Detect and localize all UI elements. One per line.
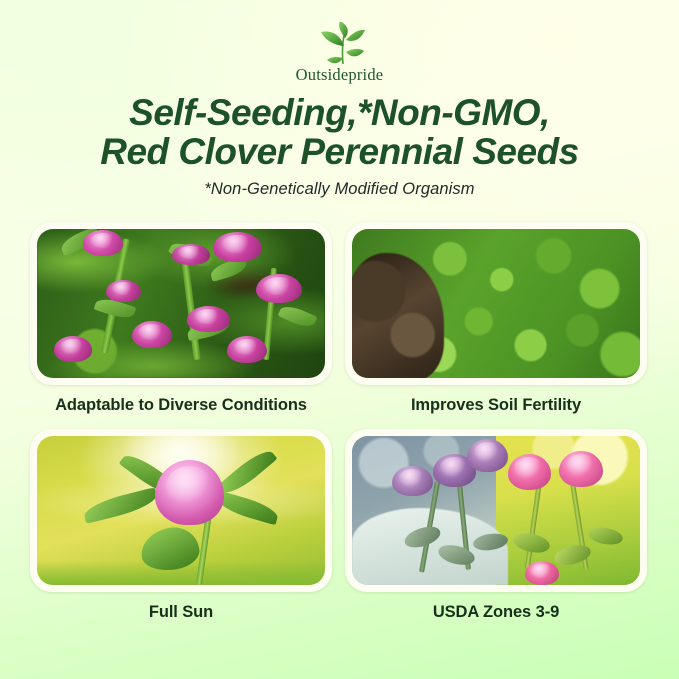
title-line-1: Self-Seeding,*Non-GMO, — [129, 92, 550, 133]
clover-bloom — [392, 466, 432, 496]
photo-frame — [345, 429, 647, 592]
clover-bloom — [132, 321, 172, 348]
brand-logo: Outsidepride — [296, 22, 384, 84]
cold-warm-split-photo — [352, 436, 640, 585]
feature-panel: Adaptable to Diverse Conditions — [30, 222, 332, 415]
brand-name: Outsidepride — [296, 67, 384, 84]
panel-caption: USDA Zones 3-9 — [345, 603, 647, 622]
clover-bloom — [83, 230, 123, 255]
leaf-sprig-icon — [303, 22, 375, 66]
photo-frame — [30, 429, 332, 592]
clover-bloom — [227, 336, 267, 363]
clover-groundcover-soil-photo — [352, 229, 640, 378]
feature-panel: USDA Zones 3-9 — [345, 429, 647, 622]
clover-bloom — [559, 451, 602, 487]
header: Outsidepride Self-Seeding,*Non-GMO, Red … — [0, 22, 679, 199]
clover-bloom — [155, 460, 224, 526]
clover-bloom — [54, 336, 91, 361]
clover-blossoms-photo — [37, 229, 325, 378]
panel-caption: Improves Soil Fertility — [345, 396, 647, 415]
infographic-canvas: Outsidepride Self-Seeding,*Non-GMO, Red … — [0, 0, 679, 679]
feature-panel: Improves Soil Fertility — [345, 222, 647, 415]
panel-caption: Adaptable to Diverse Conditions — [30, 396, 332, 415]
photo-frame — [30, 222, 332, 385]
feature-panel: Full Sun — [30, 429, 332, 622]
clover-bloom — [256, 274, 302, 304]
photo-frame — [345, 222, 647, 385]
page-subtitle: *Non-Genetically Modified Organism — [0, 180, 679, 199]
page-title: Self-Seeding,*Non-GMO, Red Clover Perenn… — [0, 93, 679, 171]
panel-caption: Full Sun — [30, 603, 332, 622]
clover-bloom — [508, 454, 551, 490]
clover-bloom — [187, 306, 230, 331]
sunlit-clover-bloom-photo — [37, 436, 325, 585]
clover-bloom — [525, 561, 560, 585]
clover-bloom — [467, 439, 507, 472]
clover-bloom — [172, 244, 209, 265]
title-line-2: Red Clover Perennial Seeds — [0, 132, 679, 171]
clover-bloom — [213, 232, 262, 262]
clover-bloom — [106, 280, 141, 302]
